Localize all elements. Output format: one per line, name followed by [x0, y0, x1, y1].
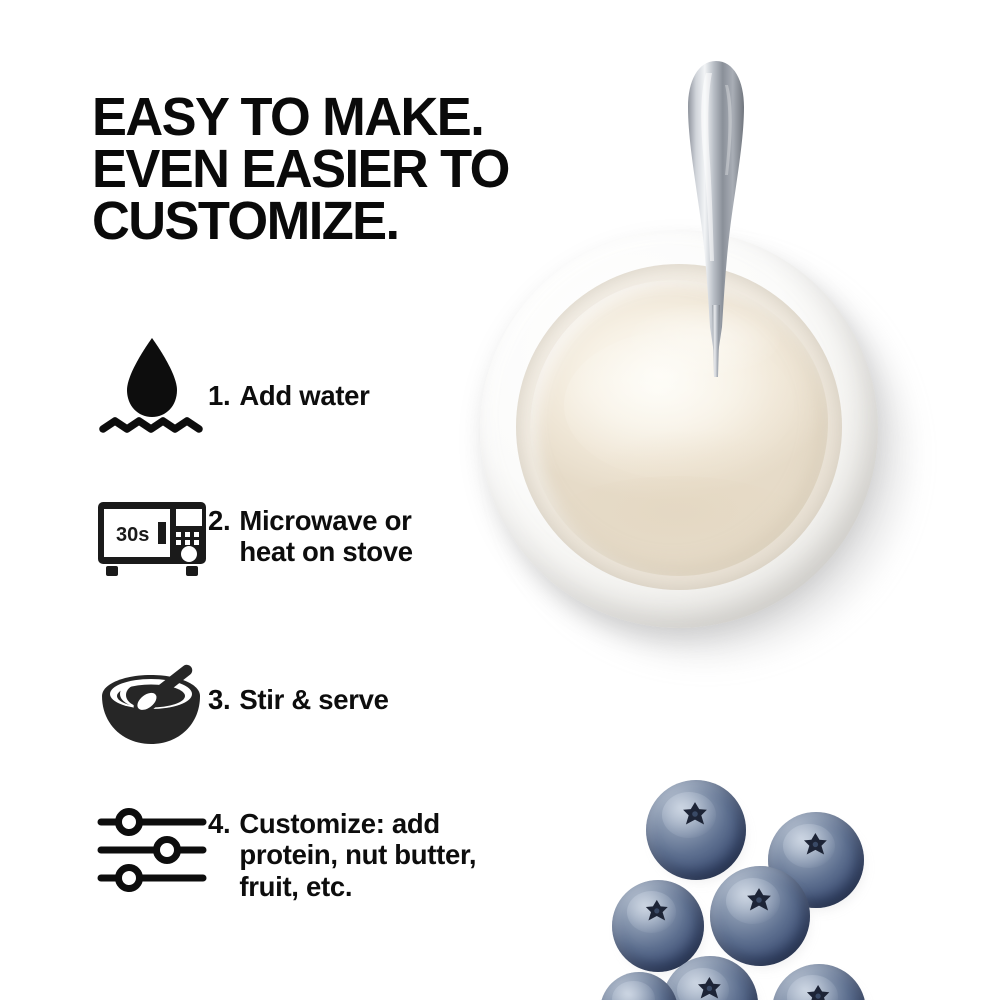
instruction-step-2: 30s 2. Microwave or heat on stove [96, 500, 413, 580]
metal-spoon [676, 55, 756, 385]
blueberry-calyx [643, 898, 671, 924]
step-1-text: 1. Add water [208, 332, 370, 411]
sliders-icon [96, 808, 208, 892]
instruction-step-3: 3. Stir & serve [96, 660, 389, 750]
step-4-text: 4. Customize: add protein, nut butter, f… [208, 808, 476, 902]
step-1-label: Add water [239, 380, 369, 411]
page-title: EASY TO MAKE. EVEN EASIER TO CUSTOMIZE. [92, 92, 635, 247]
step-4-label: Customize: add protein, nut butter, frui… [239, 808, 476, 902]
blueberry [646, 780, 746, 880]
step-4-number: 4. [208, 808, 239, 839]
step-3-number: 3. [208, 684, 239, 715]
headline-line-1: EASY TO MAKE. [92, 92, 635, 144]
step-2-label: Microwave or heat on stove [239, 505, 412, 568]
step-3-label: Stir & serve [239, 684, 388, 715]
instruction-step-4: 4. Customize: add protein, nut butter, f… [96, 808, 476, 902]
blueberry-calyx [804, 983, 832, 1000]
bowl-spoon-icon [96, 660, 208, 750]
microwave-timer-label: 30s [116, 524, 149, 546]
blueberry-cluster [600, 760, 999, 1000]
step-1-number: 1. [208, 380, 239, 411]
step-2-text: 2. Microwave or heat on stove [208, 500, 413, 568]
poster-canvas: EASY TO MAKE. EVEN EASIER TO CUSTOMIZE. [0, 0, 999, 1000]
headline-line-2: EVEN EASIER TO [92, 144, 635, 196]
step-2-number: 2. [208, 505, 239, 536]
blueberry-calyx [695, 975, 724, 1000]
blueberry [710, 866, 810, 966]
step-3-text: 3. Stir & serve [208, 660, 389, 715]
microwave-icon: 30s [96, 500, 208, 580]
blueberry [772, 964, 866, 1000]
blueberry-calyx [680, 800, 710, 828]
water-drop-waves-icon [96, 332, 208, 438]
blueberry-calyx [801, 831, 830, 858]
headline-line-3: CUSTOMIZE. [92, 196, 635, 248]
instruction-step-1: 1. Add water [96, 332, 370, 438]
blueberry-calyx [744, 886, 774, 914]
